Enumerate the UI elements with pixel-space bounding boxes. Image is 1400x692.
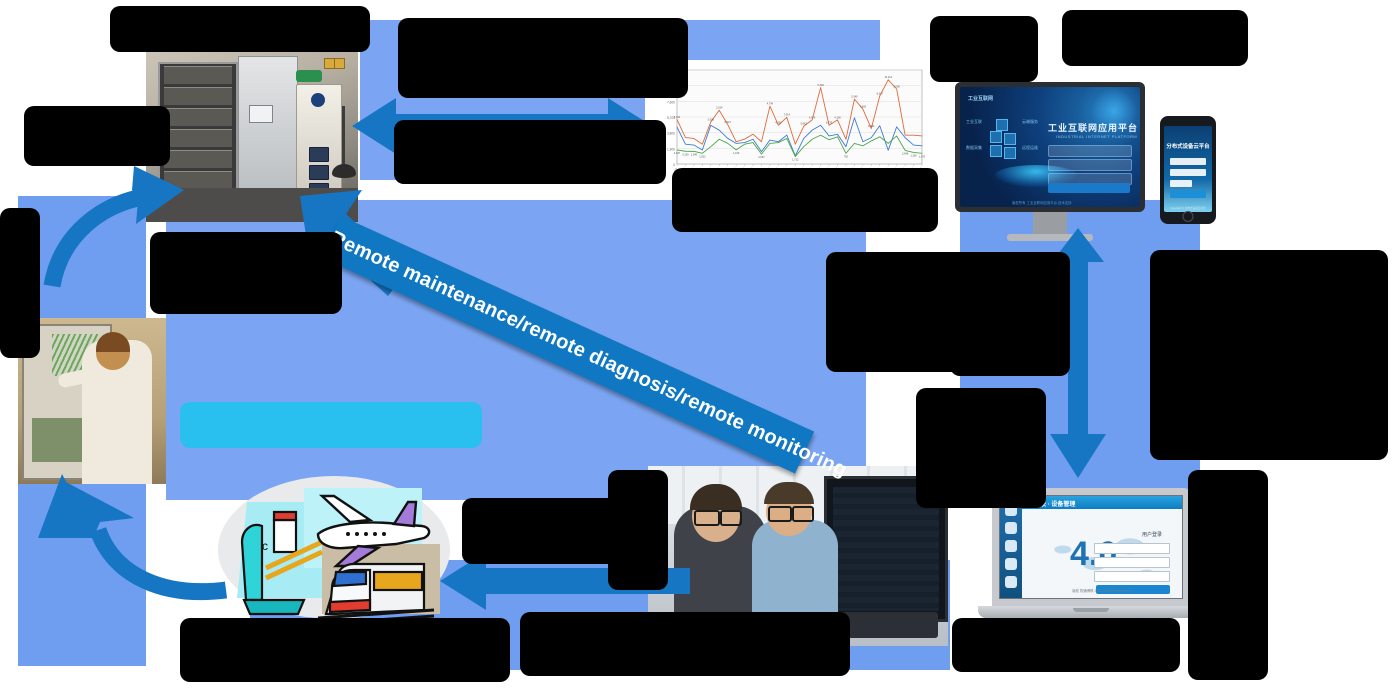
redacted-label-15 [916, 388, 1046, 508]
node-a [996, 119, 1008, 131]
tag-right: 云端服务 [1022, 119, 1038, 125]
redacted-label-2 [150, 232, 342, 314]
node-b [990, 131, 1002, 143]
svg-text:1,169: 1,169 [733, 152, 740, 155]
mobile-phone: 分布式设备云平台 Copyright © 分布式设备云平台 [1160, 116, 1216, 224]
antenna-icon [342, 106, 345, 168]
svg-text:1,712: 1,712 [792, 159, 799, 162]
svg-text:5,662: 5,662 [801, 123, 808, 126]
laptop-screen: 物通博联 · 设备管理 4.0 用户登录 版权 物通博联 2021 Global… [999, 495, 1183, 599]
redacted-label-14 [952, 618, 1180, 672]
phone-captcha-field[interactable] [1170, 180, 1192, 187]
svg-text:7,014: 7,014 [784, 114, 791, 117]
phone-password-field[interactable] [1170, 169, 1206, 176]
sidebar-icon-5[interactable] [1005, 576, 1017, 588]
transport-vectors: c [218, 468, 450, 626]
antenna-base [332, 164, 356, 178]
redacted-label-12 [180, 618, 510, 682]
desktop-username-field[interactable] [1048, 145, 1132, 157]
svg-text:2,024: 2,024 [716, 107, 723, 110]
redacted-label-18 [608, 470, 668, 590]
diagram-canvas: 01,9003,8005,7007,6009,50011,400P01P02P0… [0, 0, 1400, 692]
svg-text:c: c [262, 539, 268, 553]
desktop-screen: 工业互联网 工业互联 云端服务 数据采集 远程运维 工业互联网应用平台 INDU… [960, 87, 1140, 207]
redacted-label-17 [0, 208, 40, 358]
svg-text:4,794: 4,794 [767, 103, 774, 106]
svg-text:4,108: 4,108 [834, 116, 841, 119]
desktop-title: 工业互联网应用平台 [1048, 121, 1138, 134]
transport-clipart: c [218, 468, 450, 626]
desktop-brand-label: 工业互联网 [968, 95, 993, 102]
redacted-title [110, 6, 370, 52]
svg-text:1,675: 1,675 [919, 155, 926, 158]
svg-text:1,532: 1,532 [699, 155, 706, 158]
svg-text:5,400: 5,400 [674, 116, 681, 119]
control-panel [238, 56, 298, 204]
svg-text:5,349: 5,349 [851, 96, 858, 99]
phone-login-button[interactable] [1170, 190, 1206, 198]
laptop-content: 4.0 用户登录 版权 物通博联 2021 Global Tunnel V1.2 [1022, 509, 1182, 598]
redacted-label-5 [672, 168, 938, 232]
desktop-password-field[interactable] [1048, 159, 1132, 171]
svg-text:9,270: 9,270 [826, 122, 833, 125]
green-indicator [296, 70, 322, 82]
svg-text:3,800: 3,800 [667, 132, 675, 136]
sidebar-icon-3[interactable] [1005, 540, 1017, 552]
phone-screen: 分布式设备云平台 Copyright © 分布式设备云平台 [1164, 126, 1212, 212]
ship-icon: c [242, 512, 322, 614]
arrow-curved-bottom-left-up [36, 460, 236, 640]
laptop-footer: 版权 物通博联 2021 Global Tunnel V1.2 [1022, 588, 1182, 593]
svg-text:0: 0 [673, 163, 675, 167]
node-e [1004, 147, 1016, 159]
tag-left: 工业互联 [966, 119, 982, 125]
svg-text:7,600: 7,600 [667, 100, 675, 104]
phone-username-field[interactable] [1170, 158, 1206, 165]
svg-text:5,349: 5,349 [817, 84, 824, 87]
svg-text:2,597: 2,597 [758, 156, 765, 159]
desktop-monitor: 工业互联网 工业互联 云端服务 数据采集 远程运维 工业互联网应用平台 INDU… [955, 82, 1145, 212]
svg-text:4,576: 4,576 [809, 116, 816, 119]
redacted-label-16 [1188, 470, 1268, 680]
node-d [990, 145, 1002, 157]
gateway-logo-icon [311, 93, 325, 107]
node-c [1004, 133, 1016, 145]
login-form-label: 用户登录 [1142, 531, 1162, 538]
laptop-captcha-field[interactable] [1094, 571, 1170, 582]
redacted-label-7 [930, 16, 1038, 82]
svg-text:7,869: 7,869 [860, 105, 867, 108]
tag-left2: 数据采集 [966, 145, 982, 151]
laptop-username-field[interactable] [1094, 543, 1170, 554]
svg-text:1,546: 1,546 [691, 153, 698, 156]
svg-text:750: 750 [844, 155, 849, 158]
redacted-label-3 [398, 18, 688, 98]
tag-right2: 远程运维 [1022, 145, 1038, 151]
hero-number: 4.0 [1070, 535, 1117, 574]
phone-footer: Copyright © 分布式设备云平台 [1164, 206, 1212, 210]
laptop-notch [1073, 608, 1109, 612]
redacted-label-10 [950, 252, 1070, 376]
redacted-label-4 [394, 120, 666, 184]
sidebar-icon-2[interactable] [1005, 522, 1017, 534]
cyan-caption-block [180, 402, 482, 448]
redacted-label-13 [520, 612, 850, 676]
redacted-label-8 [1062, 10, 1248, 66]
svg-text:1,900: 1,900 [667, 147, 675, 151]
svg-text:9,096: 9,096 [894, 85, 901, 88]
desktop-footer: 版权所有 工业互联网应用平台 技术支持 [1012, 200, 1072, 205]
laptop-password-field[interactable] [1094, 557, 1170, 568]
desktop-login-button[interactable] [1048, 183, 1130, 193]
home-button-icon[interactable] [1183, 211, 1194, 222]
train-icon [318, 564, 434, 624]
svg-text:3,098: 3,098 [708, 118, 715, 121]
desktop-subtitle: INDUSTRIAL INTERNET PLATFORM [1056, 134, 1137, 139]
svg-text:4,239: 4,239 [775, 122, 782, 125]
sidebar-icon-4[interactable] [1005, 558, 1017, 570]
redacted-label-9 [1150, 250, 1388, 460]
laptop-sidebar [1000, 496, 1022, 598]
svg-text:2,946: 2,946 [902, 152, 909, 155]
svg-text:6,664: 6,664 [868, 125, 875, 128]
svg-text:6,521: 6,521 [725, 121, 732, 124]
airplane-icon [318, 496, 429, 566]
svg-text:1,300: 1,300 [910, 154, 917, 157]
svg-text:4,647: 4,647 [674, 152, 681, 155]
redacted-label-1 [24, 106, 170, 166]
svg-text:5,139: 5,139 [682, 153, 689, 156]
phone-title: 分布式设备云平台 [1164, 142, 1212, 150]
laptop: 物通博联 · 设备管理 4.0 用户登录 版权 物通博联 2021 Global… [978, 488, 1204, 628]
svg-text:8,247: 8,247 [877, 92, 884, 95]
svg-text:10,214: 10,214 [884, 76, 892, 79]
